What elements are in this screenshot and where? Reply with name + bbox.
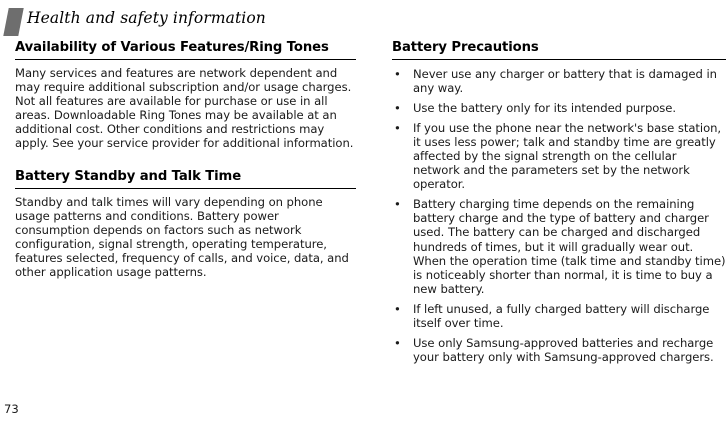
list-item: • Use the battery only for its intended … xyxy=(392,101,726,115)
running-header-title: Health and safety information xyxy=(27,9,266,27)
section-battery-standby: Battery Standby and Talk Time Standby an… xyxy=(15,170,356,279)
list-item: • Battery charging time depends on the r… xyxy=(392,197,726,296)
list-item: • Use only Samsung-approved batteries an… xyxy=(392,336,726,364)
list-item-text: If left unused, a fully charged battery … xyxy=(413,302,709,330)
list-item-text: Use the battery only for its intended pu… xyxy=(413,101,676,115)
section-availability: Availability of Various Features/Ring To… xyxy=(15,41,356,150)
bullet-icon: • xyxy=(394,197,401,211)
list-item-text: If you use the phone near the network's … xyxy=(413,121,721,191)
section-heading-battery-standby: Battery Standby and Talk Time xyxy=(15,170,356,189)
bullet-icon: • xyxy=(394,302,401,316)
page-number: 73 xyxy=(4,403,19,416)
list-item-text: Never use any charger or battery that is… xyxy=(413,67,717,95)
page-header: Health and safety information xyxy=(0,0,726,40)
list-item: • If you use the phone near the network'… xyxy=(392,121,726,191)
section-body-battery-standby: Standby and talk times will vary dependi… xyxy=(15,195,356,280)
list-item: • If left unused, a fully charged batter… xyxy=(392,302,726,330)
section-body-availability: Many services and features are network d… xyxy=(15,66,356,151)
right-column: Battery Precautions • Never use any char… xyxy=(392,41,726,364)
left-column: Availability of Various Features/Ring To… xyxy=(15,41,356,279)
header-bar-mark-icon xyxy=(3,8,23,36)
list-item: • Never use any charger or battery that … xyxy=(392,67,726,95)
section-heading-battery-precautions: Battery Precautions xyxy=(392,41,726,60)
bullet-icon: • xyxy=(394,67,401,81)
section-battery-precautions: Battery Precautions • Never use any char… xyxy=(392,41,726,364)
section-heading-availability: Availability of Various Features/Ring To… xyxy=(15,41,356,60)
list-item-text: Use only Samsung-approved batteries and … xyxy=(413,336,714,364)
bullet-icon: • xyxy=(394,101,401,115)
battery-precautions-list: • Never use any charger or battery that … xyxy=(392,67,726,365)
bullet-icon: • xyxy=(394,121,401,135)
bullet-icon: • xyxy=(394,336,401,350)
list-item-text: Battery charging time depends on the rem… xyxy=(413,197,726,296)
